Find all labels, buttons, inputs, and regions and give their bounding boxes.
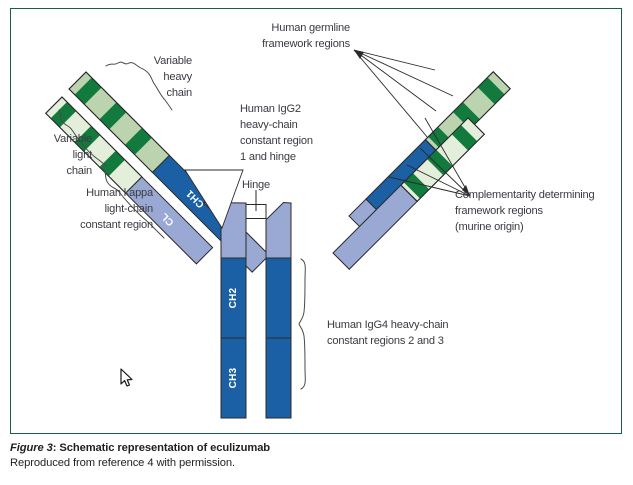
label-igg2-line1: Human IgG2: [240, 103, 301, 115]
figure-caption: Figure 3: Schematic representation of ec…: [10, 441, 622, 471]
left-ch2-domain: CH2: [221, 258, 246, 338]
label-igg4-line2: constant regions 2 and 3: [327, 335, 444, 347]
label-igg2-line3: constant region: [240, 135, 313, 147]
label-kappa-line1: Human kappa: [86, 187, 154, 199]
germline-leader-arrows: [354, 50, 453, 138]
left-ch3-domain: CH3: [221, 338, 246, 418]
label-vhc-line1: Variable: [154, 55, 192, 67]
right-ch2-domain: [266, 258, 291, 338]
label-cdr-line2: framework regions: [455, 205, 544, 217]
label-igg2-line2: heavy-chain: [240, 119, 298, 131]
label-vhc-line2: heavy: [163, 71, 192, 83]
figure-number: Figure 3: [10, 442, 53, 454]
ch3-label: CH3: [228, 367, 239, 388]
label-kappa-line3: constant region: [80, 219, 153, 231]
hinge-connector: [246, 190, 266, 219]
caption-title-line: Figure 3: Schematic representation of ec…: [10, 441, 622, 456]
label-germline-line2: framework regions: [262, 38, 351, 50]
label-vlc-line2: light: [73, 149, 92, 161]
antibody-diagram: CH1 CL: [0, 0, 633, 485]
mouse-pointer-icon: [120, 368, 134, 388]
label-vlc-line3: chain: [66, 165, 92, 177]
right-stem-hinge: [266, 203, 291, 259]
label-vhc-line3: chain: [166, 87, 192, 99]
caption-title: Schematic representation of eculizumab: [59, 442, 270, 454]
label-igg2-line4: 1 and hinge: [240, 151, 296, 163]
label-igg4-line1: Human IgG4 heavy-chain: [327, 319, 448, 331]
figure-root: CH1 CL: [0, 0, 633, 485]
germline-arrowheads: [354, 50, 364, 59]
brace-human-igg4: [299, 259, 305, 389]
label-kappa-line2: light-chain: [105, 203, 153, 215]
right-ch3-domain: [266, 338, 291, 418]
caption-credit: Reproduced from reference 4 with permiss…: [10, 456, 622, 471]
label-cdr-line3: (murine origin): [455, 221, 524, 233]
label-cdr-line1: Complementarity determining: [455, 189, 595, 201]
hinge-label: Hinge: [242, 179, 270, 191]
label-germline-line1: Human germline: [271, 22, 350, 34]
label-vlc-line1: Variable: [54, 133, 92, 145]
ch2-label: CH2: [228, 287, 239, 308]
